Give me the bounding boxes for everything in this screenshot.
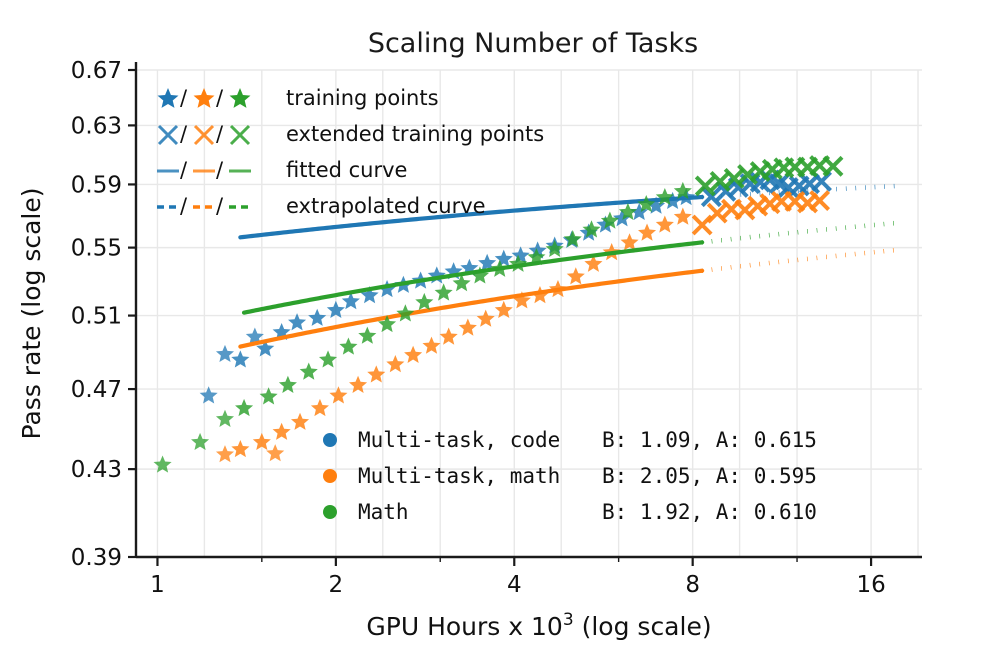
x-axis-label: GPU Hours x 103 (log scale) xyxy=(366,610,711,641)
extended-training-point-marker xyxy=(708,204,726,222)
fit-legend: Multi-task, codeB: 1.09, A: 0.615Multi-t… xyxy=(323,428,817,524)
training-point-marker xyxy=(459,319,477,336)
fit-legend-label: Multi-task, code xyxy=(358,428,560,452)
y-tick-label: 0.63 xyxy=(71,113,122,139)
series-1 xyxy=(216,192,896,463)
training-point-marker xyxy=(319,350,337,367)
legend-cross-marker xyxy=(231,126,249,144)
extended-training-point-marker xyxy=(824,157,842,175)
training-point-marker xyxy=(396,304,414,321)
training-point-marker xyxy=(308,309,326,326)
legend-star-marker xyxy=(230,88,251,108)
training-point-marker xyxy=(638,224,656,241)
training-point-marker xyxy=(231,440,249,457)
legend-label-extended_training_points: extended training points xyxy=(286,122,544,146)
training-point-marker xyxy=(349,376,367,393)
training-point-marker xyxy=(235,399,253,416)
extrapolated-curve xyxy=(702,250,895,271)
y-tick-label: 0.59 xyxy=(71,172,122,198)
training-point-marker xyxy=(531,286,549,303)
fit-legend-dot xyxy=(323,433,337,447)
extrapolated-curve xyxy=(702,223,895,242)
fit-legend-stats: B: 1.09, A: 0.615 xyxy=(602,428,817,452)
fit-legend-label: Math xyxy=(358,500,409,524)
training-point-marker xyxy=(216,445,234,462)
x-tick-label: 8 xyxy=(685,572,700,598)
training-point-marker xyxy=(300,363,318,380)
training-point-marker xyxy=(435,283,453,300)
training-point-marker xyxy=(266,444,284,461)
training-point-marker xyxy=(358,327,376,344)
y-tick-label: 0.39 xyxy=(71,545,122,571)
training-point-marker xyxy=(339,337,357,354)
extended-training-point-marker xyxy=(693,216,711,234)
training-point-marker xyxy=(422,337,440,354)
fit-legend-stats: B: 2.05, A: 0.595 xyxy=(602,464,817,488)
fitted-curve xyxy=(240,271,702,347)
legend-label-fitted_curve: fitted curve xyxy=(286,158,407,182)
x-tick-label: 4 xyxy=(507,572,522,598)
fit-legend-label: Multi-task, math xyxy=(358,464,560,488)
y-axis-label: Pass rate (log scale) xyxy=(17,188,46,440)
fit-legend-stats: B: 1.92, A: 0.610 xyxy=(602,500,817,524)
training-point-marker xyxy=(656,216,674,233)
legend-label-training_points: training points xyxy=(286,86,439,110)
legend-separator: / xyxy=(216,86,224,110)
legend-star-marker xyxy=(158,88,179,108)
training-point-marker xyxy=(191,433,209,450)
y-tick-label: 0.67 xyxy=(71,58,122,84)
scaling-chart-svg: 0.390.430.470.510.550.590.630.67124816Sc… xyxy=(0,0,1000,661)
training-point-marker xyxy=(415,293,433,310)
training-point-marker xyxy=(216,410,234,427)
fit-legend-dot xyxy=(323,469,337,483)
data-layer xyxy=(154,157,896,473)
x-tick-label: 1 xyxy=(150,572,165,598)
legend-separator: / xyxy=(180,122,188,146)
y-tick-label: 0.47 xyxy=(71,377,122,403)
extended-training-point-marker xyxy=(811,192,829,210)
training-point-marker xyxy=(440,328,458,345)
training-point-marker xyxy=(231,350,249,367)
marker-legend: //training points//extended training poi… xyxy=(157,86,544,218)
legend-label-extrapolated_curve: extrapolated curve xyxy=(286,194,486,218)
y-tick-label: 0.55 xyxy=(71,236,122,262)
training-point-marker xyxy=(291,413,309,430)
training-point-marker xyxy=(567,267,585,284)
training-point-marker xyxy=(311,399,329,416)
chart-title: Scaling Number of Tasks xyxy=(368,28,698,59)
legend-separator: / xyxy=(216,194,224,218)
training-point-marker xyxy=(216,345,234,362)
legend-separator: / xyxy=(216,158,224,182)
legend-separator: / xyxy=(216,122,224,146)
fit-legend-dot xyxy=(323,505,337,519)
x-tick-label: 16 xyxy=(856,572,885,598)
y-tick-label: 0.43 xyxy=(71,457,122,483)
chart-figure: 0.390.430.470.510.550.590.630.67124816Sc… xyxy=(0,0,1000,661)
y-tick-label: 0.51 xyxy=(71,304,122,330)
training-point-marker xyxy=(386,355,404,372)
legend-cross-marker xyxy=(159,126,177,144)
legend-separator: / xyxy=(180,194,188,218)
training-point-marker xyxy=(273,423,291,440)
training-point-marker xyxy=(549,280,567,297)
legend-separator: / xyxy=(180,86,188,110)
training-point-marker xyxy=(279,376,297,393)
x-tick-label: 2 xyxy=(329,572,344,598)
training-point-marker xyxy=(404,346,422,363)
training-point-marker xyxy=(477,310,495,327)
training-point-marker xyxy=(154,455,172,472)
training-point-marker xyxy=(674,208,692,225)
legend-separator: / xyxy=(180,158,188,182)
training-point-marker xyxy=(495,250,513,267)
